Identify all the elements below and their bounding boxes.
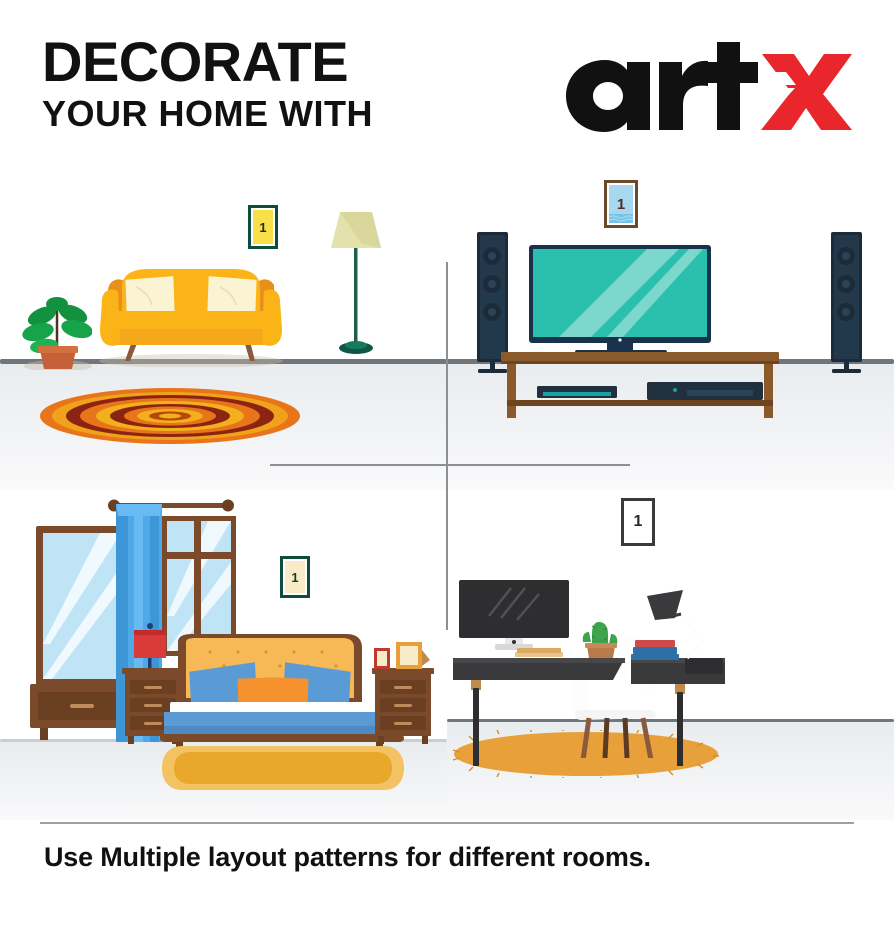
wall-art-frame[interactable]: 1 bbox=[621, 498, 655, 546]
vertical-divider-bottom bbox=[446, 460, 448, 630]
footer-divider bbox=[40, 822, 854, 824]
logo-letter-r bbox=[659, 61, 708, 130]
frame-mat: 1 bbox=[607, 183, 635, 225]
desk-left[interactable] bbox=[453, 658, 633, 770]
frame-number: 1 bbox=[634, 513, 643, 531]
living-room-scene[interactable]: 1 bbox=[0, 160, 447, 490]
logo-letter-a bbox=[566, 60, 650, 132]
logo-letter-x bbox=[761, 54, 852, 130]
tv-room-scene[interactable]: 1 bbox=[447, 160, 894, 490]
scene-grid: 1 bbox=[0, 160, 894, 820]
orange-rug bbox=[158, 746, 408, 796]
wall-art-frame[interactable]: 1 bbox=[604, 180, 638, 228]
headline-secondary: YOUR HOME WITH bbox=[42, 96, 373, 132]
right-nightstand[interactable] bbox=[372, 668, 434, 744]
footer: Use Multiple layout patterns for differe… bbox=[0, 820, 894, 927]
home-office-scene[interactable]: 1 bbox=[447, 490, 894, 820]
vertical-divider-top bbox=[446, 262, 448, 460]
logo-letter-t bbox=[705, 42, 758, 130]
wall-art-frame[interactable]: 1 bbox=[248, 205, 278, 249]
potted-plant bbox=[22, 270, 92, 370]
frame-mat: 1 bbox=[283, 559, 307, 595]
frame-artwork: 1 bbox=[253, 210, 273, 244]
round-rug bbox=[40, 388, 300, 444]
floor-lamp[interactable] bbox=[322, 200, 390, 362]
bedroom-scene[interactable]: 1 bbox=[0, 490, 447, 820]
horizontal-divider bbox=[270, 464, 630, 466]
frame-number: 1 bbox=[259, 220, 266, 235]
frame-mat: 1 bbox=[251, 208, 275, 246]
frame-number: 1 bbox=[291, 570, 298, 585]
wall-art-frame[interactable]: 1 bbox=[280, 556, 310, 598]
photo-frames bbox=[374, 640, 432, 670]
page-title: DECORATE YOUR HOME WITH bbox=[42, 34, 373, 132]
artx-logo bbox=[562, 36, 852, 136]
desk-lamp[interactable] bbox=[643, 590, 713, 664]
desk-right[interactable] bbox=[625, 658, 735, 770]
footer-caption: Use Multiple layout patterns for differe… bbox=[44, 842, 651, 873]
frame-number: 1 bbox=[617, 196, 625, 213]
media-console[interactable] bbox=[501, 352, 779, 422]
headline-primary: DECORATE bbox=[42, 34, 373, 90]
right-speaker[interactable] bbox=[825, 232, 869, 374]
frame-artwork: 1 bbox=[285, 561, 305, 593]
frame-artwork: 1 bbox=[626, 503, 650, 541]
artwork-water bbox=[609, 214, 633, 223]
artx-logo-svg bbox=[562, 38, 852, 134]
monitor[interactable] bbox=[459, 580, 583, 658]
frame-mat: 1 bbox=[624, 501, 652, 543]
frame-artwork: 1 bbox=[609, 185, 633, 223]
tv-screen[interactable] bbox=[529, 245, 719, 355]
header: DECORATE YOUR HOME WITH bbox=[0, 0, 894, 160]
yellow-sofa[interactable] bbox=[98, 257, 284, 367]
